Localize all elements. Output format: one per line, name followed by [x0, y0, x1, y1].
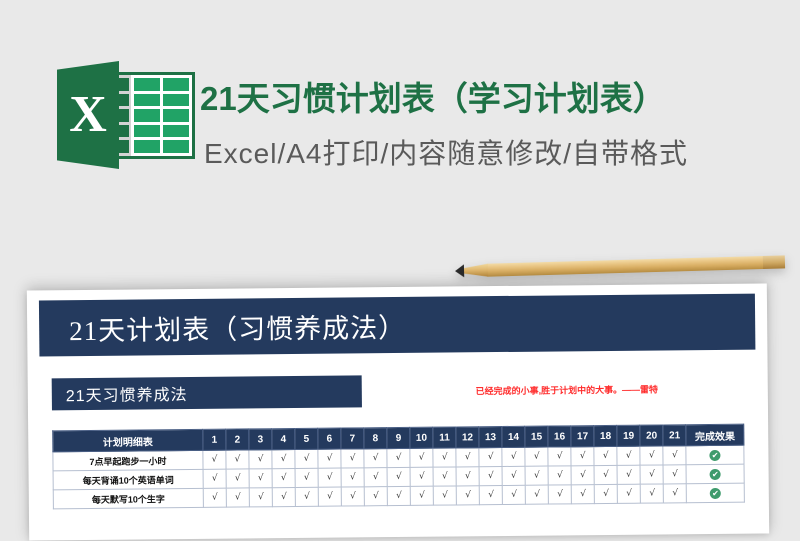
day-check-cell[interactable]: √: [387, 467, 410, 486]
spreadsheet-cells: [131, 75, 192, 156]
day-check-cell[interactable]: √: [617, 446, 640, 465]
day-check-cell[interactable]: √: [295, 487, 318, 506]
day-check-cell[interactable]: √: [502, 447, 525, 466]
day-check-cell[interactable]: √: [295, 468, 318, 487]
header-day-12: 12: [456, 427, 479, 448]
check-circle-icon: ✔: [710, 487, 721, 498]
header-day-19: 19: [617, 425, 640, 446]
day-check-cell[interactable]: √: [295, 449, 318, 468]
day-check-cell[interactable]: √: [548, 447, 571, 466]
day-check-cell[interactable]: √: [410, 448, 433, 467]
day-check-cell[interactable]: √: [571, 447, 594, 466]
header-day-3: 3: [249, 429, 272, 450]
day-check-cell[interactable]: √: [594, 465, 617, 484]
header-day-17: 17: [571, 426, 594, 447]
day-check-cell[interactable]: √: [640, 446, 663, 465]
completion-result-cell: ✔: [686, 464, 744, 484]
day-check-cell[interactable]: √: [456, 448, 479, 467]
day-check-cell[interactable]: √: [618, 484, 641, 503]
day-check-cell[interactable]: √: [641, 484, 664, 503]
document-body: 21天习惯养成法 已经完成的小事,胜于计划中的大事。——雷特 计划明细表 1 2…: [40, 372, 757, 510]
day-check-cell[interactable]: √: [203, 469, 226, 488]
header-day-18: 18: [594, 425, 617, 446]
day-check-cell[interactable]: √: [456, 486, 479, 505]
header-day-4: 4: [272, 428, 295, 449]
day-check-cell[interactable]: √: [272, 449, 295, 468]
day-check-cell[interactable]: √: [595, 484, 618, 503]
product-hero-banner: X 21天习惯计划表（学习计划表） Excel/A4打印/内容随意修改/自带格式: [0, 0, 800, 230]
day-check-cell[interactable]: √: [410, 486, 433, 505]
task-name-cell: 每天背诵10个英语单词: [53, 469, 203, 489]
header-day-14: 14: [502, 426, 525, 447]
pencil-body: [487, 255, 785, 276]
day-check-cell[interactable]: √: [341, 487, 364, 506]
day-check-cell[interactable]: √: [318, 487, 341, 506]
header-day-2: 2: [226, 429, 249, 450]
quote-cell: 已经完成的小事,胜于计划中的大事。——雷特: [362, 372, 744, 408]
pencil-wood-cone: [462, 264, 488, 278]
day-check-cell[interactable]: √: [226, 488, 249, 507]
day-check-cell[interactable]: √: [364, 468, 387, 487]
excel-logo-letter: X: [57, 61, 119, 169]
motivational-quote: 已经完成的小事,胜于计划中的大事。——雷特: [475, 382, 658, 397]
day-check-cell[interactable]: √: [525, 466, 548, 485]
day-check-cell[interactable]: √: [226, 469, 249, 488]
completion-result-cell: ✔: [686, 445, 744, 465]
header-day-5: 5: [295, 428, 318, 449]
spreadsheet-icon: [114, 72, 195, 159]
day-check-cell[interactable]: √: [456, 467, 479, 486]
day-check-cell[interactable]: √: [663, 446, 686, 465]
pencil-tip: [455, 264, 464, 277]
section-header-label: 21天习惯养成法: [66, 381, 188, 406]
day-check-cell[interactable]: √: [410, 467, 433, 486]
header-result: 完成效果: [686, 424, 744, 446]
day-check-cell[interactable]: √: [226, 450, 249, 469]
day-check-cell[interactable]: √: [364, 449, 387, 468]
header-day-15: 15: [525, 426, 548, 447]
day-check-cell[interactable]: √: [249, 488, 272, 507]
day-check-cell[interactable]: √: [549, 485, 572, 504]
header-day-6: 6: [318, 428, 341, 449]
day-check-cell[interactable]: √: [249, 469, 272, 488]
header-day-1: 1: [203, 429, 226, 450]
header-day-10: 10: [410, 427, 433, 448]
day-check-cell[interactable]: √: [203, 450, 226, 469]
header-day-7: 7: [341, 428, 364, 449]
day-check-cell[interactable]: √: [502, 466, 525, 485]
day-check-cell[interactable]: √: [318, 468, 341, 487]
day-check-cell[interactable]: √: [387, 448, 410, 467]
day-check-cell[interactable]: √: [479, 448, 502, 467]
pencil-end: [763, 255, 785, 269]
day-check-cell[interactable]: √: [272, 468, 295, 487]
day-check-cell[interactable]: √: [387, 486, 410, 505]
document-preview-sheet: 21天计划表（习惯养成法） 21天习惯养成法 已经完成的小事,胜于计划中的大事。…: [27, 283, 769, 540]
header-day-21: 21: [663, 425, 686, 446]
day-check-cell[interactable]: √: [203, 488, 226, 507]
day-check-cell[interactable]: √: [594, 446, 617, 465]
day-check-cell[interactable]: √: [572, 485, 595, 504]
header-day-9: 9: [387, 427, 410, 448]
day-check-cell[interactable]: √: [249, 450, 272, 469]
section-header-bar: 21天习惯养成法: [52, 375, 362, 410]
day-check-cell[interactable]: √: [341, 468, 364, 487]
day-check-cell[interactable]: √: [526, 485, 549, 504]
header-day-11: 11: [433, 427, 456, 448]
header-task: 计划明细表: [53, 429, 203, 451]
header-day-13: 13: [479, 427, 502, 448]
day-check-cell[interactable]: √: [318, 449, 341, 468]
header-day-8: 8: [364, 428, 387, 449]
excel-logo: X: [57, 61, 195, 169]
header-day-20: 20: [640, 425, 663, 446]
day-check-cell[interactable]: √: [433, 448, 456, 467]
spreadsheet-row-headers: [117, 75, 131, 156]
page-subtitle: Excel/A4打印/内容随意修改/自带格式: [204, 132, 688, 172]
task-name-cell: 7点早起跑步一小时: [53, 450, 203, 470]
document-banner-title: 21天计划表（习惯养成法）: [69, 305, 406, 347]
completion-result-cell: ✔: [687, 483, 745, 503]
day-check-cell[interactable]: √: [664, 484, 687, 503]
day-check-cell[interactable]: √: [663, 465, 686, 484]
check-circle-icon: ✔: [710, 468, 721, 479]
habit-plan-table: 计划明细表 1 2 3 4 5 6 7 8 9 10 11 12 13 14 1…: [52, 424, 745, 510]
day-check-cell[interactable]: √: [571, 466, 594, 485]
document-banner: 21天计划表（习惯养成法）: [39, 294, 756, 357]
day-check-cell[interactable]: √: [640, 465, 663, 484]
day-check-cell[interactable]: √: [364, 487, 387, 506]
day-check-cell[interactable]: √: [548, 466, 571, 485]
day-check-cell[interactable]: √: [502, 485, 525, 504]
day-check-cell[interactable]: √: [341, 449, 364, 468]
check-circle-icon: ✔: [710, 449, 721, 460]
day-check-cell[interactable]: √: [479, 467, 502, 486]
header-day-16: 16: [548, 426, 571, 447]
day-check-cell[interactable]: √: [433, 486, 456, 505]
day-check-cell[interactable]: √: [479, 486, 502, 505]
plan-table-body: 7点早起跑步一小时√√√√√√√√√√√√√√√√√√√√√✔每天背诵10个英语…: [53, 445, 745, 509]
task-name-cell: 每天默写10个生字: [53, 488, 203, 508]
pencil-icon: [455, 255, 785, 277]
section-header-row: 21天习惯养成法 已经完成的小事,胜于计划中的大事。——雷特: [52, 372, 744, 411]
day-check-cell[interactable]: √: [272, 487, 295, 506]
day-check-cell[interactable]: √: [433, 467, 456, 486]
day-check-cell[interactable]: √: [525, 447, 548, 466]
day-check-cell[interactable]: √: [617, 465, 640, 484]
page-title: 21天习惯计划表（学习计划表）: [200, 72, 666, 120]
